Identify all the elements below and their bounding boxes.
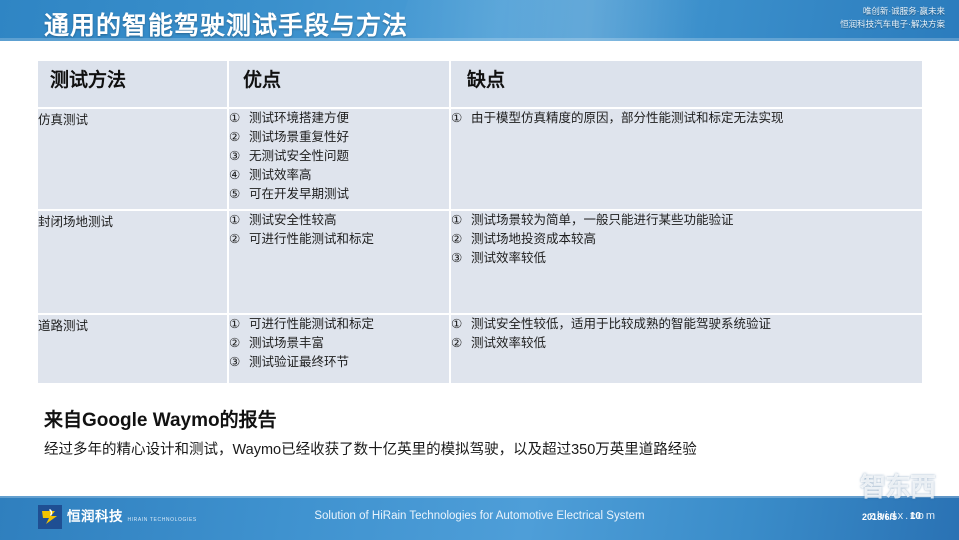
list-marker: ① xyxy=(451,315,471,334)
list-marker: ② xyxy=(229,334,249,353)
list-item-text: 测试效率高 xyxy=(249,166,449,185)
slide-header: 通用的智能驾驶测试手段与方法 唯创新·诚服务·赢未来 恒润科技汽车电子·解决方案 xyxy=(0,0,959,41)
list-item: ③无测试安全性问题 xyxy=(229,147,449,166)
list-marker: ① xyxy=(451,109,471,128)
list-item-text: 测试效率较低 xyxy=(471,249,922,268)
page-title: 通用的智能驾驶测试手段与方法 xyxy=(44,6,408,41)
list-marker: ③ xyxy=(229,353,249,372)
list-marker: ① xyxy=(229,109,249,128)
brand-slogan-line2: 恒润科技汽车电子·解决方案 xyxy=(840,18,945,31)
list-item-text: 测试环境搭建方便 xyxy=(249,109,449,128)
header-sheen-decoration xyxy=(382,0,838,41)
list-marker: ① xyxy=(229,211,249,230)
cell-method: 封闭场地测试 xyxy=(38,210,228,314)
list-item-text: 可进行性能测试和标定 xyxy=(249,315,449,334)
list-marker: ② xyxy=(451,334,471,353)
list-item: ⑤可在开发早期测试 xyxy=(229,185,449,204)
page-number: 10 xyxy=(910,511,921,522)
cell-advantages: ①测试安全性较高 ②可进行性能测试和标定 xyxy=(228,210,450,314)
list-item: ②测试场景重复性好 xyxy=(229,128,449,147)
list-marker: ⑤ xyxy=(229,185,249,204)
cell-disadvantages: ①测试安全性较低，适用于比较成熟的智能驾驶系统验证 ②测试效率较低 xyxy=(450,314,922,383)
report-body-text: 经过多年的精心设计和测试，Waymo已经收获了数十亿英里的模拟驾驶，以及超过35… xyxy=(44,438,697,459)
table-row: 道路测试 ①可进行性能测试和标定 ②测试场景丰富 ③测试验证最终环节 ①测试安全… xyxy=(38,314,922,383)
list-item: ③测试验证最终环节 xyxy=(229,353,449,372)
list-item: ③测试效率较低 xyxy=(451,249,922,268)
column-header-disadvantages: 缺点 xyxy=(450,61,922,108)
list-item: ①可进行性能测试和标定 xyxy=(229,315,449,334)
cell-advantages: ①测试环境搭建方便 ②测试场景重复性好 ③无测试安全性问题 ④测试效率高 ⑤可在… xyxy=(228,108,450,210)
list-item-text: 无测试安全性问题 xyxy=(249,147,449,166)
comparison-table: 测试方法 优点 缺点 仿真测试 ①测试环境搭建方便 ②测试场景重复性好 ③无测试… xyxy=(38,61,922,383)
list-item-text: 由于模型仿真精度的原因，部分性能测试和标定无法实现 xyxy=(471,109,922,128)
list-item-text: 测试安全性较低，适用于比较成熟的智能驾驶系统验证 xyxy=(471,315,922,334)
column-header-method: 测试方法 xyxy=(38,61,228,108)
cell-disadvantages: ①由于模型仿真精度的原因，部分性能测试和标定无法实现 xyxy=(450,108,922,210)
column-header-advantages: 优点 xyxy=(228,61,450,108)
list-item-text: 测试验证最终环节 xyxy=(249,353,449,372)
table-row: 仿真测试 ①测试环境搭建方便 ②测试场景重复性好 ③无测试安全性问题 ④测试效率… xyxy=(38,108,922,210)
list-item-text: 测试场地投资成本较高 xyxy=(471,230,922,249)
list-item-text: 测试场景重复性好 xyxy=(249,128,449,147)
list-marker: ② xyxy=(229,128,249,147)
list-item: ②测试场地投资成本较高 xyxy=(451,230,922,249)
cell-method: 道路测试 xyxy=(38,314,228,383)
list-item: ②可进行性能测试和标定 xyxy=(229,230,449,249)
list-marker: ① xyxy=(451,211,471,230)
list-item: ①由于模型仿真精度的原因，部分性能测试和标定无法实现 xyxy=(451,109,922,128)
list-item: ①测试安全性较低，适用于比较成熟的智能驾驶系统验证 xyxy=(451,315,922,334)
list-marker: ③ xyxy=(229,147,249,166)
table-header-row: 测试方法 优点 缺点 xyxy=(38,61,922,108)
list-item-text: 测试场景丰富 xyxy=(249,334,449,353)
footer-tagline: Solution of HiRain Technologies for Auto… xyxy=(0,510,959,522)
list-item-text: 测试安全性较高 xyxy=(249,211,449,230)
list-item: ②测试效率较低 xyxy=(451,334,922,353)
list-item: ④测试效率高 xyxy=(229,166,449,185)
list-item: ①测试安全性较高 xyxy=(229,211,449,230)
list-item: ①测试场景较为简单，一般只能进行某些功能验证 xyxy=(451,211,922,230)
list-item-text: 可在开发早期测试 xyxy=(249,185,449,204)
list-item-text: 测试场景较为简单，一般只能进行某些功能验证 xyxy=(471,211,922,230)
list-item: ②测试场景丰富 xyxy=(229,334,449,353)
list-item-text: 测试效率较低 xyxy=(471,334,922,353)
brand-slogan: 唯创新·诚服务·赢未来 恒润科技汽车电子·解决方案 xyxy=(840,5,945,31)
cell-advantages: ①可进行性能测试和标定 ②测试场景丰富 ③测试验证最终环节 xyxy=(228,314,450,383)
list-marker: ③ xyxy=(451,249,471,268)
list-marker: ④ xyxy=(229,166,249,185)
slide-footer: 恒润科技 HIRAIN TECHNOLOGIES Solution of HiR… xyxy=(0,496,959,540)
footer-date: 2018/6/5 xyxy=(862,512,897,522)
brand-slogan-line1: 唯创新·诚服务·赢未来 xyxy=(840,5,945,18)
list-marker: ② xyxy=(451,230,471,249)
report-heading: 来自Google Waymo的报告 xyxy=(44,405,277,432)
list-marker: ① xyxy=(229,315,249,334)
list-item-text: 可进行性能测试和标定 xyxy=(249,230,449,249)
list-item: ①测试环境搭建方便 xyxy=(229,109,449,128)
cell-disadvantages: ①测试场景较为简单，一般只能进行某些功能验证 ②测试场地投资成本较高 ③测试效率… xyxy=(450,210,922,314)
list-marker: ② xyxy=(229,230,249,249)
cell-method: 仿真测试 xyxy=(38,108,228,210)
table-row: 封闭场地测试 ①测试安全性较高 ②可进行性能测试和标定 ①测试场景较为简单，一般… xyxy=(38,210,922,314)
